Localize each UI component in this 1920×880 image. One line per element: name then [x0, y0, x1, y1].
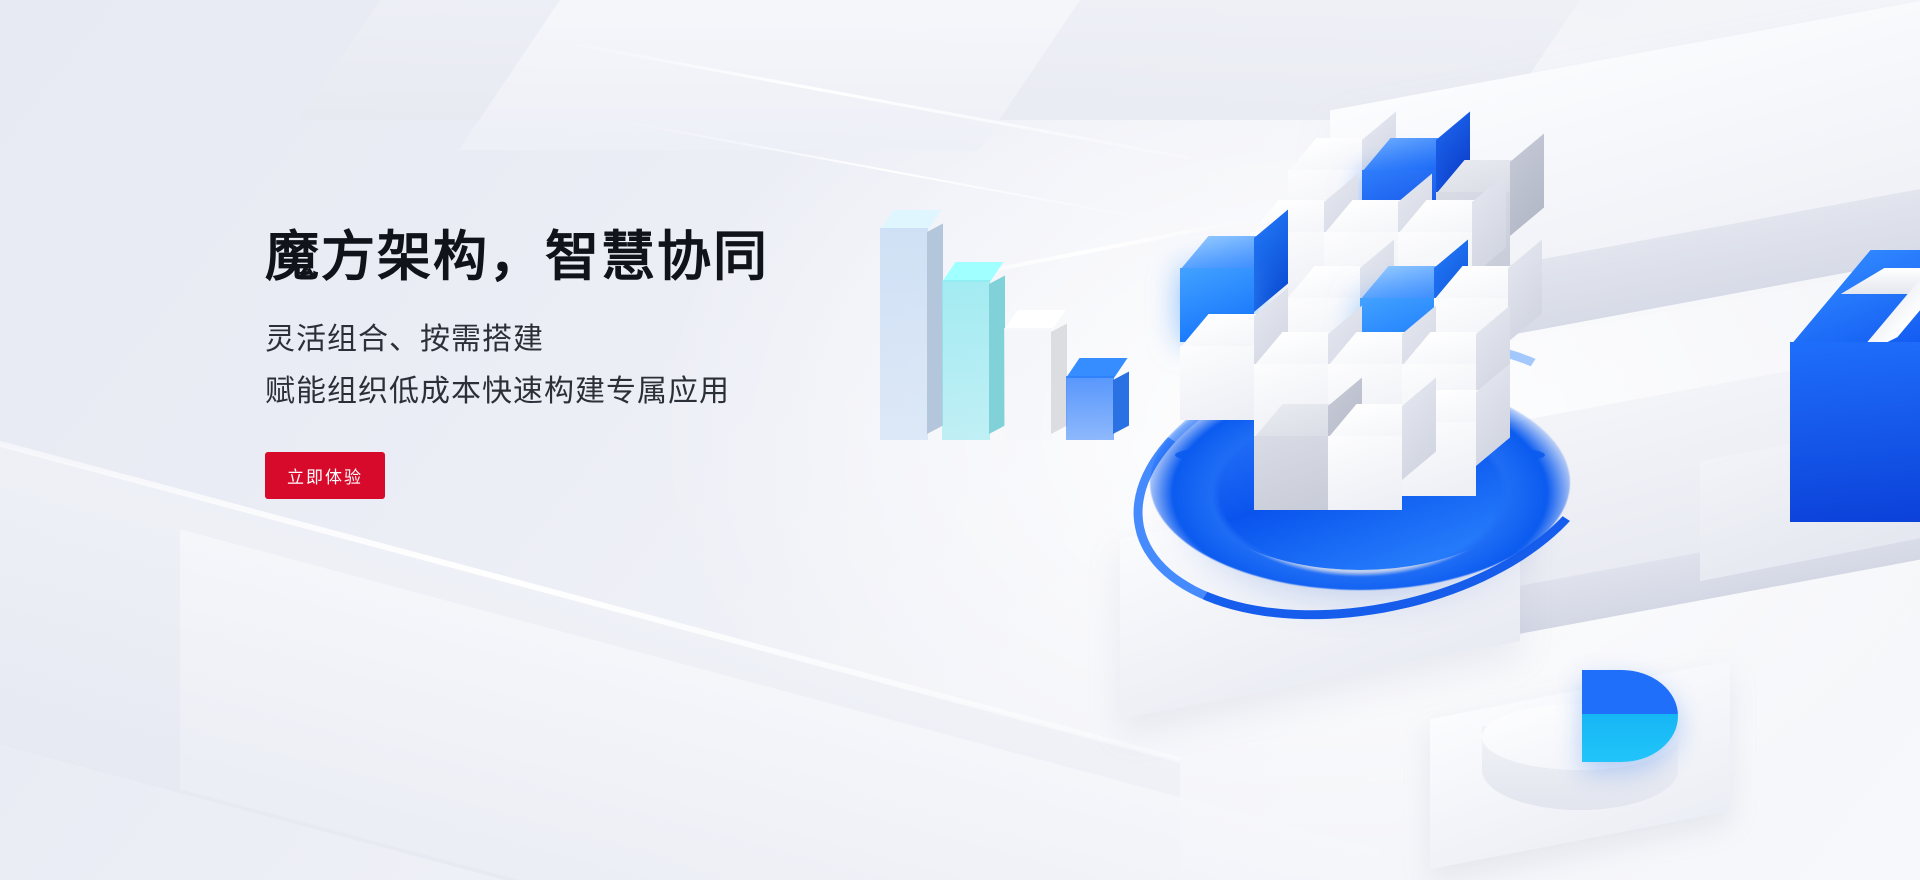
hero-banner: 魔方架构，智慧协同 灵活组合、按需搭建 赋能组织低成本快速构建专属应用 立即体验	[0, 0, 1920, 880]
bar-4	[1066, 358, 1114, 440]
bar-4-side	[1113, 371, 1129, 434]
page-title: 魔方架构，智慧协同	[265, 225, 1045, 290]
cube-cluster-stage	[1140, 150, 1600, 620]
cube-side-face	[1508, 239, 1542, 342]
cube-front-face	[1180, 346, 1254, 420]
cube-15-grey	[1254, 436, 1328, 510]
cube-17-white	[1328, 436, 1402, 510]
cube-11-white	[1180, 346, 1254, 420]
box-front-face	[1790, 342, 1920, 522]
bar-3-side	[1051, 323, 1067, 434]
bar-4-front	[1066, 376, 1114, 440]
try-now-button[interactable]: 立即体验	[265, 452, 385, 499]
blue-box-with-white-cross	[1790, 250, 1920, 510]
hero-subtitle-line-2: 赋能组织低成本快速构建专属应用	[265, 366, 1045, 418]
cube-front-face	[1254, 436, 1328, 510]
hero-subtitle-line-1: 灵活组合、按需搭建	[265, 314, 1045, 366]
hero-text-block: 魔方架构，智慧协同 灵活组合、按需搭建 赋能组织低成本快速构建专属应用 立即体验	[265, 225, 1045, 499]
cube-front-face	[1328, 436, 1402, 510]
bar-4-top	[1066, 358, 1127, 378]
hero-subtitle: 灵活组合、按需搭建 赋能组织低成本快速构建专属应用	[265, 314, 1045, 418]
box-top-face	[1790, 250, 1920, 346]
cross-icon-horizontal	[1841, 268, 1920, 294]
cylinder-stage	[1430, 660, 1760, 880]
